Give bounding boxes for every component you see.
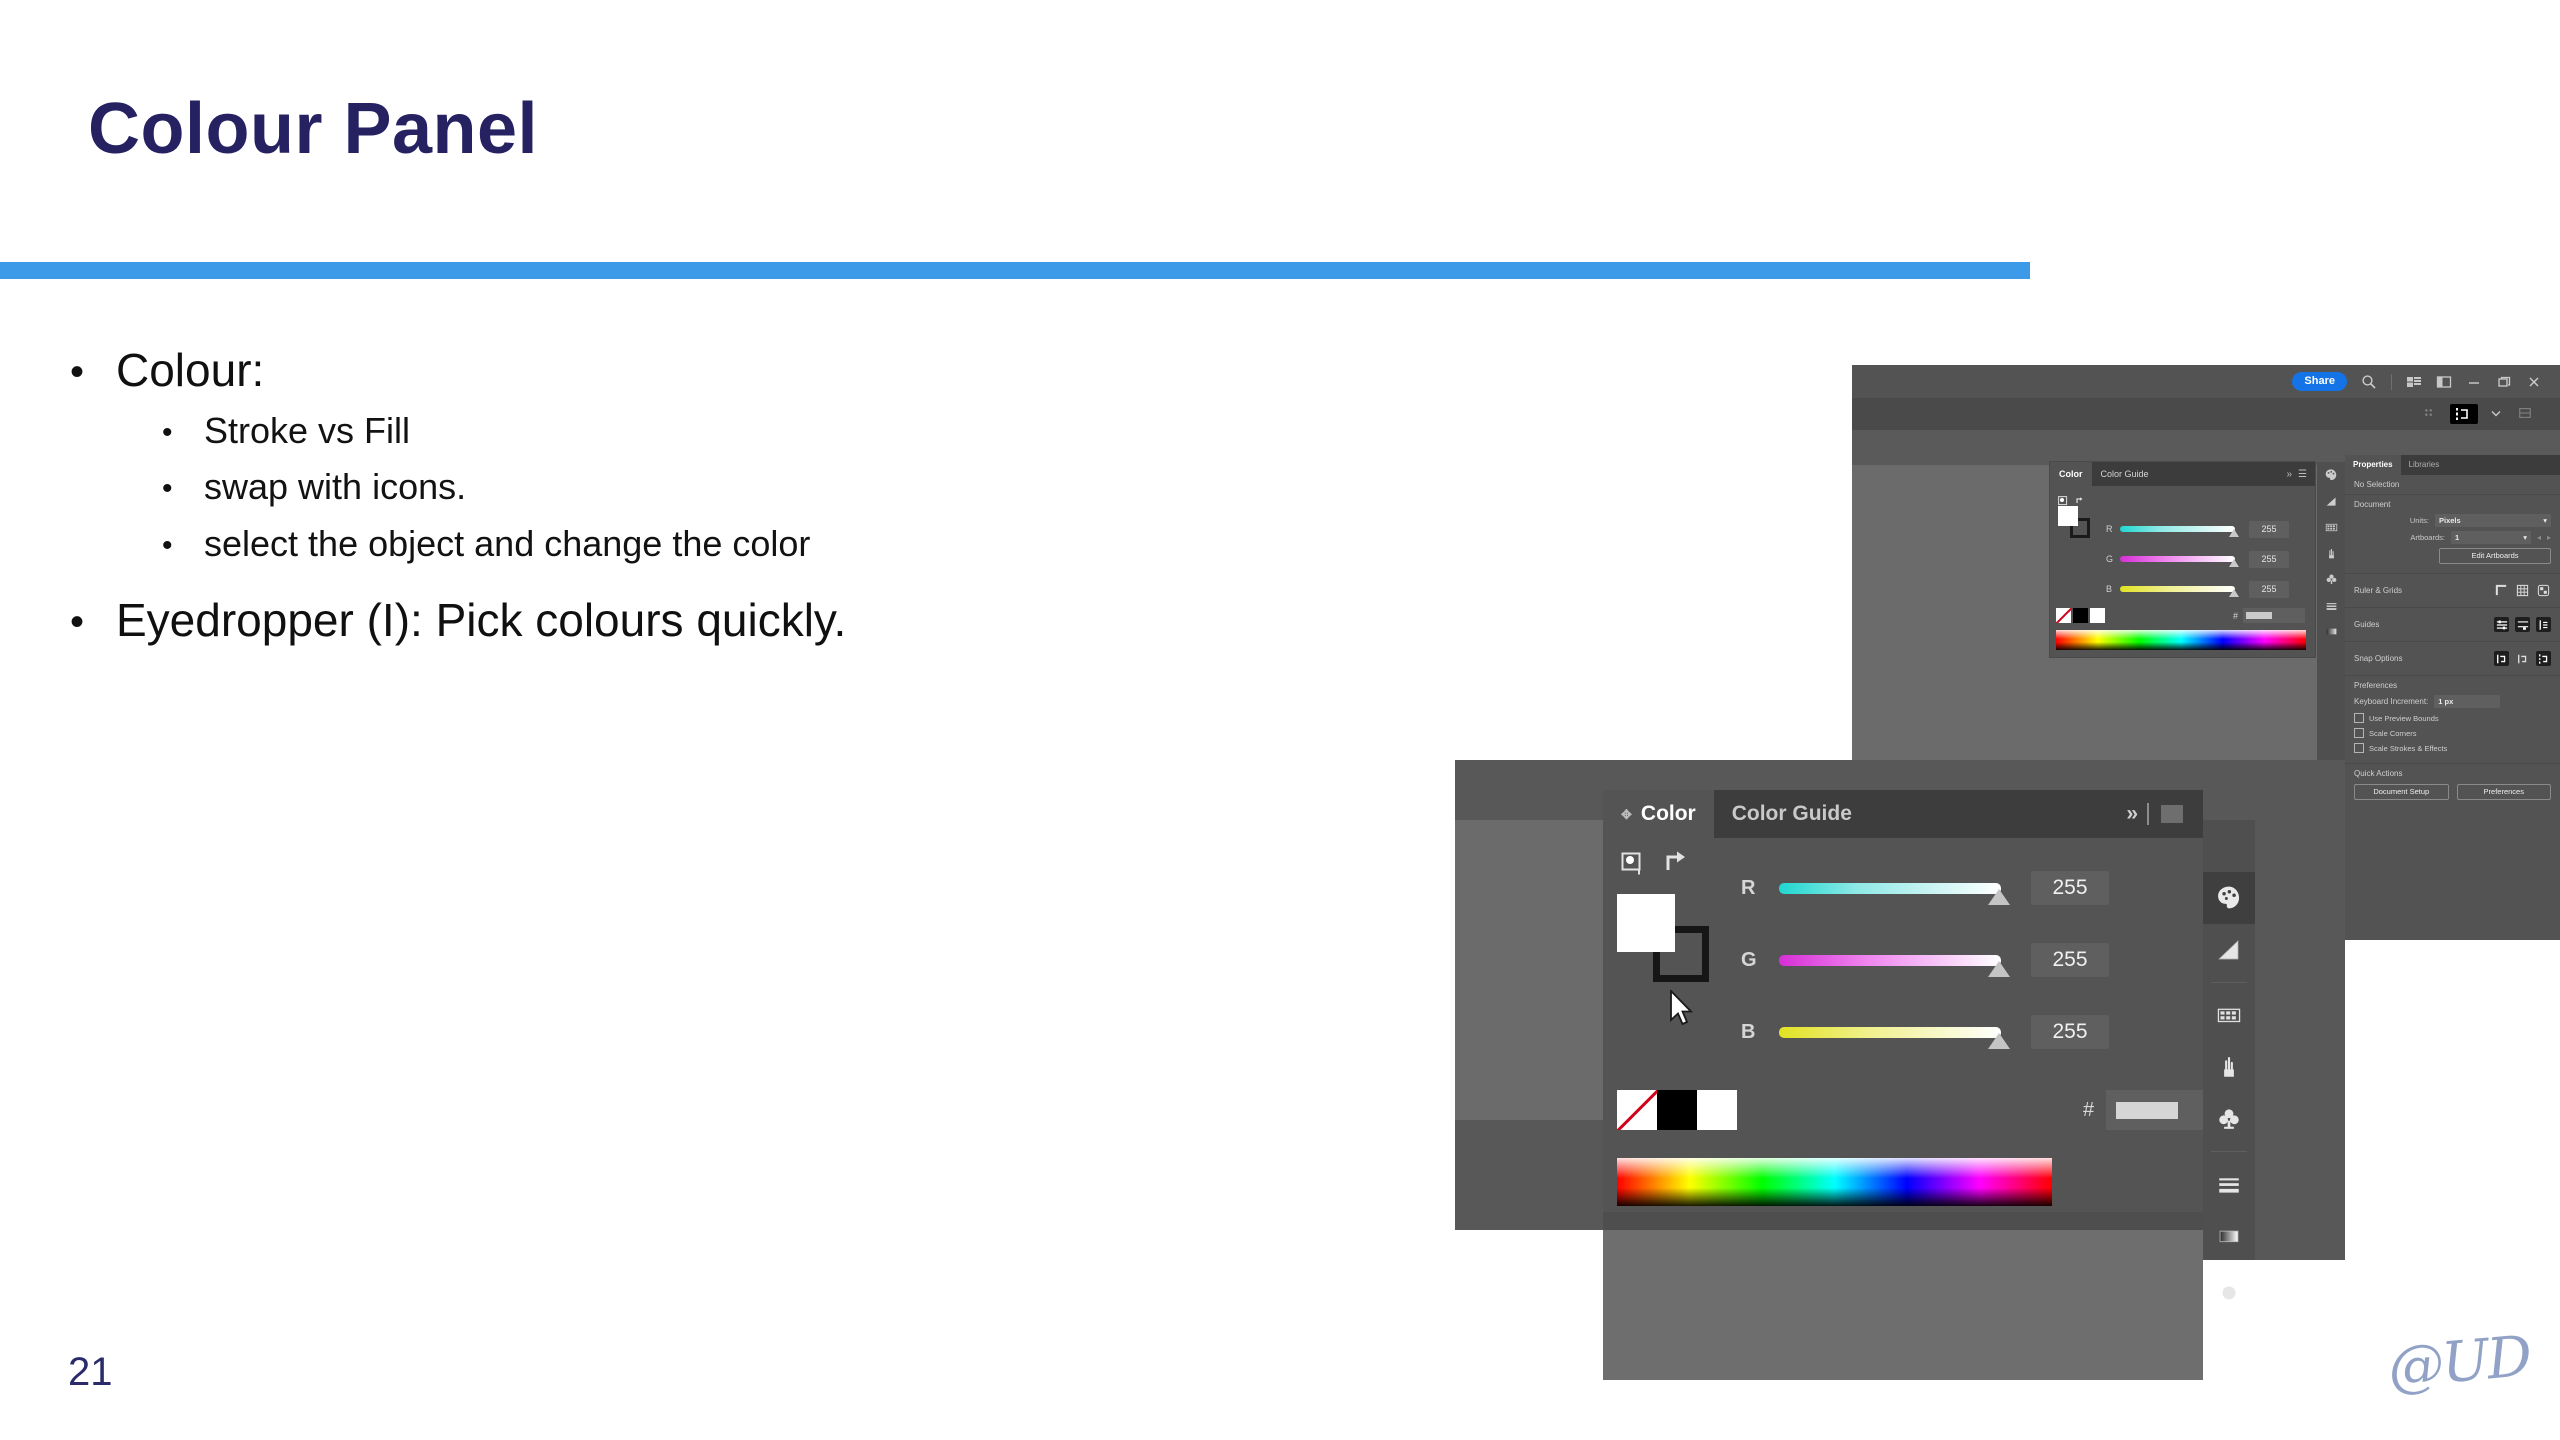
title-divider-rule <box>0 262 2030 279</box>
color-palette-icon[interactable] <box>2203 872 2255 924</box>
artboards-row: Artboards: 1 ▾ ◂ ▸ <box>2354 531 2551 544</box>
show-guides-icon[interactable] <box>2494 617 2509 632</box>
scale-corners-label: Scale Corners <box>2369 729 2417 738</box>
properties-tabs: Properties Libraries <box>2345 455 2560 475</box>
units-select[interactable]: Pixels ▾ <box>2435 514 2551 527</box>
color-panel-tabs-front: ✥ Color Color Guide » <box>1603 790 2203 838</box>
show-transparency-grid-icon[interactable] <box>2536 583 2551 598</box>
color-panel-tabs: Color Color Guide » ☰ <box>2050 462 2315 486</box>
list-item-label: swap with icons. <box>204 464 466 511</box>
use-preview-bounds-label: Use Preview Bounds <box>2369 714 2439 723</box>
fill-stroke-control[interactable] <box>1617 850 1717 1010</box>
list-item: • Stroke vs Fill <box>162 408 1250 455</box>
slider-knob[interactable] <box>2229 589 2239 597</box>
chevron-down-icon[interactable]: ▾ <box>2543 516 2547 525</box>
brushes-icon[interactable] <box>2203 1041 2255 1093</box>
channel-label: B <box>2106 584 2120 594</box>
lock-guides-icon[interactable] <box>2515 617 2530 632</box>
channel-label: R <box>2106 524 2120 534</box>
minimize-icon[interactable] <box>2466 374 2482 390</box>
prev-artboard-icon[interactable]: ◂ <box>2537 533 2541 542</box>
document-setup-button[interactable]: Document Setup <box>2354 784 2449 800</box>
color-spectrum-ramp-mini[interactable] <box>2056 630 2306 650</box>
show-rulers-icon[interactable] <box>2494 583 2509 598</box>
gradient-panel-icon[interactable] <box>2317 618 2345 644</box>
color-panel-header-icons: » ☰ <box>2286 469 2315 480</box>
swatch-row-mini <box>2056 608 2105 623</box>
scale-strokes-effects-label: Scale Strokes & Effects <box>2369 744 2447 753</box>
channel-slider-b[interactable] <box>2120 586 2235 592</box>
tab-color-label: Color <box>1641 802 1696 826</box>
channel-value-r-front[interactable]: 255 <box>2031 871 2109 905</box>
tab-color-guide-front[interactable]: Color Guide <box>1714 790 1870 838</box>
color-mode-icon[interactable] <box>1621 852 1647 876</box>
collapse-chevrons-icon[interactable]: » <box>2286 469 2292 480</box>
white-swatch[interactable] <box>2090 608 2105 623</box>
hex-label: # <box>2233 611 2238 621</box>
channel-label: G <box>2106 554 2120 564</box>
color-panel-background[interactable]: Color Color Guide » ☰ R <box>2050 462 2315 657</box>
slider-knob[interactable] <box>2229 529 2239 537</box>
restore-icon[interactable] <box>2496 374 2512 390</box>
dock-separator <box>2211 1151 2247 1152</box>
units-row: Units: Pixels ▾ <box>2354 514 2551 527</box>
next-artboard-icon[interactable]: ▸ <box>2547 533 2551 542</box>
collapse-chevrons-icon[interactable]: » <box>2126 802 2135 826</box>
options-bar <box>1852 398 2560 430</box>
scale-strokes-effects-row[interactable]: Scale Strokes & Effects <box>2354 743 2551 753</box>
chevron-down-icon[interactable] <box>2490 406 2506 422</box>
color-spectrum-ramp[interactable] <box>1617 1158 2052 1206</box>
slider-knob[interactable] <box>2229 559 2239 567</box>
document-heading: Document <box>2354 500 2551 509</box>
hex-input-mini[interactable] <box>2243 608 2305 623</box>
swatches-icon[interactable] <box>2317 514 2345 540</box>
edit-artboards-row: Edit Artboards <box>2354 548 2551 564</box>
slider-knob[interactable] <box>1988 889 2010 905</box>
panel-grid-icon[interactable] <box>2518 406 2534 422</box>
black-swatch[interactable] <box>1657 1090 1697 1130</box>
symbols-icon[interactable] <box>2317 566 2345 592</box>
none-swatch[interactable] <box>2056 608 2071 623</box>
preferences-section: Preferences Keyboard Increment: 1 px Use… <box>2345 676 2560 764</box>
toolbar-separator <box>2147 803 2149 825</box>
tab-color-guide[interactable]: Color Guide <box>2092 462 2158 486</box>
fill-swatch-mini[interactable] <box>2058 506 2078 526</box>
channel-slider-g-front[interactable] <box>1779 955 2001 966</box>
properties-panel[interactable]: Properties Libraries No Selection Docume… <box>2345 455 2560 940</box>
stroke-icon[interactable] <box>2317 592 2345 618</box>
keyboard-increment-label: Keyboard Increment: <box>2354 697 2428 706</box>
channel-row-b-front: B 255 <box>1741 996 2161 1068</box>
ruler-grids-label: Ruler & Grids <box>2354 586 2402 595</box>
panel-grip-icon: ✥ <box>1621 808 1632 821</box>
list-item: • select the object and change the color <box>162 521 1250 568</box>
channel-row-r-front: R 255 <box>1741 852 2161 924</box>
symbols-icon[interactable] <box>2203 1093 2255 1145</box>
gradient-panel-icon[interactable] <box>2203 1210 2255 1262</box>
stroke-icon[interactable] <box>2203 1158 2255 1210</box>
bullet-marker: • <box>162 464 204 504</box>
selection-status: No Selection <box>2345 475 2560 495</box>
list-item-label: Colour: <box>116 340 264 402</box>
channel-value-b-front[interactable]: 255 <box>2031 1015 2109 1049</box>
panel-menu-icon[interactable] <box>2161 805 2183 823</box>
search-icon[interactable] <box>2361 374 2377 390</box>
fill-swatch[interactable] <box>1617 894 1675 952</box>
ruler-grids-section: Ruler & Grids <box>2345 574 2560 608</box>
guides-label: Guides <box>2354 620 2379 629</box>
release-guides-icon[interactable] <box>2536 617 2551 632</box>
list-item: • Eyedropper (I): Pick colours quickly. <box>70 590 1250 652</box>
slider-knob[interactable] <box>1988 1033 2010 1049</box>
bullet-list: • Colour: • Stroke vs Fill • swap with i… <box>70 340 1250 658</box>
tab-properties[interactable]: Properties <box>2345 455 2401 475</box>
quick-actions-section: Quick Actions Document Setup Preferences <box>2345 764 2560 805</box>
channel-value-r[interactable]: 255 <box>2249 521 2289 538</box>
page-title: Colour Panel <box>88 88 538 170</box>
list-item: • Colour: <box>70 340 1250 402</box>
channel-slider-g[interactable] <box>2120 556 2235 562</box>
swap-fill-stroke-icon[interactable] <box>2076 494 2087 505</box>
toolbar-separator <box>2391 374 2392 390</box>
workspace-icon[interactable] <box>2436 374 2452 390</box>
channel-slider-r-front[interactable] <box>1779 883 2001 894</box>
snap-to-grid-icon[interactable] <box>2494 651 2509 666</box>
artboards-label: Artboards: <box>2354 533 2445 542</box>
list-item-label: select the object and change the color <box>204 521 810 568</box>
keyboard-increment-row: Keyboard Increment: 1 px <box>2354 695 2551 708</box>
black-swatch[interactable] <box>2073 608 2088 623</box>
slider-knob[interactable] <box>1988 961 2010 977</box>
share-button[interactable]: Share <box>2292 372 2347 391</box>
channel-value-g[interactable]: 255 <box>2249 551 2289 568</box>
channel-slider-b-front[interactable] <box>1779 1027 2001 1038</box>
snap-options-label: Snap Options <box>2354 654 2402 663</box>
tab-color[interactable]: Color <box>2050 462 2092 486</box>
color-palette-icon[interactable] <box>2317 462 2345 488</box>
units-value: Pixels <box>2439 516 2461 525</box>
transparency-icon[interactable] <box>2203 1262 2255 1314</box>
white-swatch[interactable] <box>1697 1090 1737 1130</box>
keyboard-increment-input[interactable]: 1 px <box>2434 695 2500 708</box>
selection-status-label: No Selection <box>2354 480 2399 489</box>
edit-artboards-button[interactable]: Edit Artboards <box>2439 548 2551 564</box>
drag-handle-icon[interactable] <box>2422 406 2438 422</box>
gradient-icon[interactable] <box>2317 488 2345 514</box>
arrange-documents-icon[interactable] <box>2406 374 2422 390</box>
use-preview-bounds-checkbox[interactable] <box>2354 713 2364 723</box>
bullet-marker: • <box>162 408 204 448</box>
panel-menu-icon[interactable]: ☰ <box>2298 469 2307 480</box>
color-panel-header-icons-front: » <box>2126 790 2203 838</box>
scale-corners-row[interactable]: Scale Corners <box>2354 728 2551 738</box>
swatch-row <box>1617 1090 1737 1130</box>
units-label: Units: <box>2354 516 2429 525</box>
panel-footer <box>1603 1212 2203 1230</box>
color-mode-icon[interactable] <box>2058 494 2069 505</box>
gradient-icon[interactable] <box>2203 924 2255 976</box>
tab-color-guide-label: Color Guide <box>1732 802 1852 826</box>
mouse-cursor-icon <box>1669 990 1695 1028</box>
channel-slider-r[interactable] <box>2120 526 2235 532</box>
document-section: Document Units: Pixels ▾ Artboards: 1 ▾ … <box>2345 495 2560 574</box>
channel-row-b: B 255 <box>2050 574 2315 604</box>
channel-label-r: R <box>1741 877 1779 900</box>
swap-fill-stroke-icon[interactable] <box>1665 850 1693 876</box>
channel-row-g: G 255 <box>2050 544 2315 574</box>
slide: Colour Panel • Colour: • Stroke vs Fill … <box>0 0 2560 1440</box>
smart-guides-icon[interactable] <box>2536 651 2551 666</box>
list-item-label: Eyedropper (I): Pick colours quickly. <box>116 590 846 652</box>
hex-field-mini[interactable]: # <box>2233 608 2305 623</box>
channel-label-b: B <box>1741 1021 1779 1044</box>
dock-spacer-top <box>2203 820 2255 872</box>
keyboard-increment-value: 1 px <box>2438 697 2453 706</box>
sub-list: • Stroke vs Fill • swap with icons. • se… <box>162 408 1250 568</box>
bullet-marker: • <box>162 521 204 561</box>
scale-strokes-effects-checkbox[interactable] <box>2354 743 2364 753</box>
canvas-white-area <box>1455 1230 1603 1380</box>
color-panel-foreground[interactable]: ✥ Color Color Guide » <box>1603 790 2203 1230</box>
app-window-front: ✥ Color Color Guide » <box>1455 760 2345 1260</box>
artboards-select[interactable]: 1 ▾ <box>2451 531 2531 544</box>
brushes-icon[interactable] <box>2317 540 2345 566</box>
channel-value-g-front[interactable]: 255 <box>2031 943 2109 977</box>
bullet-marker: • <box>70 590 116 642</box>
snap-to-point-icon[interactable] <box>2515 651 2530 666</box>
guides-section: Guides <box>2345 608 2560 642</box>
close-icon[interactable] <box>2526 374 2542 390</box>
scale-corners-checkbox[interactable] <box>2354 728 2364 738</box>
quick-actions-heading: Quick Actions <box>2354 769 2551 778</box>
artboards-value: 1 <box>2455 533 2459 542</box>
chevron-down-icon[interactable]: ▾ <box>2523 533 2527 542</box>
none-swatch[interactable] <box>1617 1090 1657 1130</box>
channel-row-g-front: G 255 <box>1741 924 2161 996</box>
show-grid-icon[interactable] <box>2515 583 2530 598</box>
list-item-label: Stroke vs Fill <box>204 408 410 455</box>
use-preview-bounds-row[interactable]: Use Preview Bounds <box>2354 713 2551 723</box>
panel-dock-front <box>2203 820 2255 1260</box>
tab-color-front[interactable]: ✥ Color <box>1603 790 1714 838</box>
hex-label: # <box>2083 1099 2094 1122</box>
window-controls-bar: Share <box>1852 365 2560 398</box>
page-number: 21 <box>68 1350 113 1395</box>
bullet-marker: • <box>70 340 116 392</box>
channel-label-g: G <box>1741 949 1779 972</box>
dock-separator <box>2211 982 2247 983</box>
lower-panel-block <box>1603 1230 2203 1380</box>
channel-value-b[interactable]: 255 <box>2249 581 2289 598</box>
illustrator-screenshot: Share <box>1455 365 2560 1315</box>
align-to-selection-icon[interactable] <box>2450 404 2478 424</box>
snap-options-section: Snap Options <box>2345 642 2560 676</box>
rgb-channel-rows: R 255 G 255 B 255 <box>1741 852 2161 1068</box>
tab-libraries[interactable]: Libraries <box>2401 455 2448 475</box>
list-item: • swap with icons. <box>162 464 1250 511</box>
swatches-icon[interactable] <box>2203 989 2255 1041</box>
preferences-button[interactable]: Preferences <box>2457 784 2552 800</box>
author-signature: @UD <box>2385 1324 2532 1401</box>
preferences-heading: Preferences <box>2354 681 2551 690</box>
